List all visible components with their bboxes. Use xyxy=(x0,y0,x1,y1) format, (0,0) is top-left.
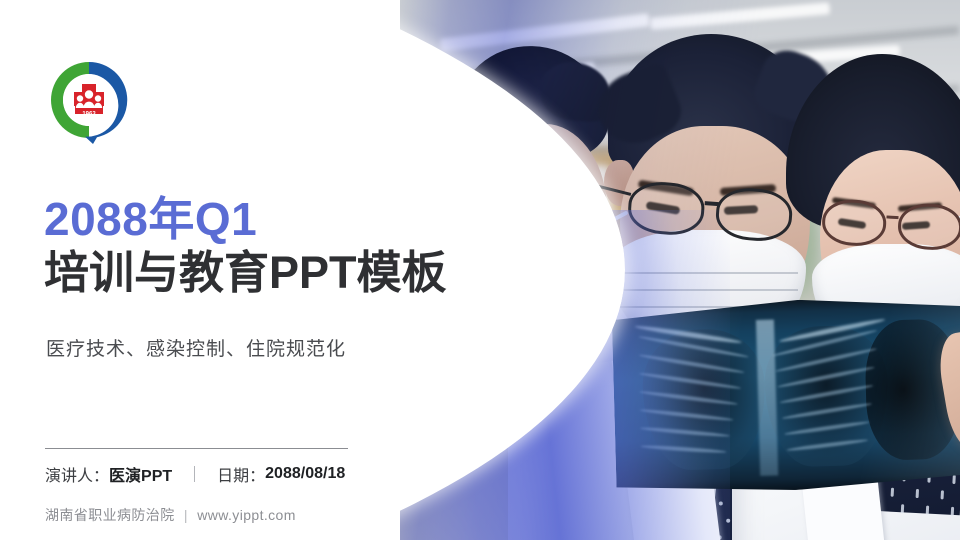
slide-content: 1963 2088年Q1 培训与教育PPT模板 医疗技术、感染控制、住院规范化 … xyxy=(0,0,420,540)
divider xyxy=(45,448,348,449)
title-block: 2088年Q1 培训与教育PPT模板 xyxy=(44,196,514,297)
page-subtitle: 医疗技术、感染控制、住院规范化 xyxy=(46,334,346,361)
presenter-value: 医演PPT xyxy=(109,462,172,486)
page-title-main: 培训与教育PPT模板 xyxy=(44,248,514,298)
date-label: 日期： xyxy=(217,462,265,486)
footer-website: www.yippt.com xyxy=(197,507,296,523)
footer: 湖南省职业病防治院 | www.yippt.com xyxy=(45,505,296,525)
meta-separator xyxy=(194,466,195,482)
footer-separator: | xyxy=(184,507,188,523)
hospital-logo: 1963 xyxy=(45,56,133,144)
presenter-meta: 演讲人： 医演PPT 日期： 2088/08/18 xyxy=(45,462,345,486)
svg-text:1963: 1963 xyxy=(82,112,96,118)
presenter-label: 演讲人： xyxy=(45,462,109,486)
footer-organization: 湖南省职业病防治院 xyxy=(45,507,175,523)
page-title-year: 2088年Q1 xyxy=(44,196,514,244)
date-value: 2088/08/18 xyxy=(265,465,345,483)
presentation-slide: 1963 2088年Q1 培训与教育PPT模板 医疗技术、感染控制、住院规范化 … xyxy=(0,0,960,540)
